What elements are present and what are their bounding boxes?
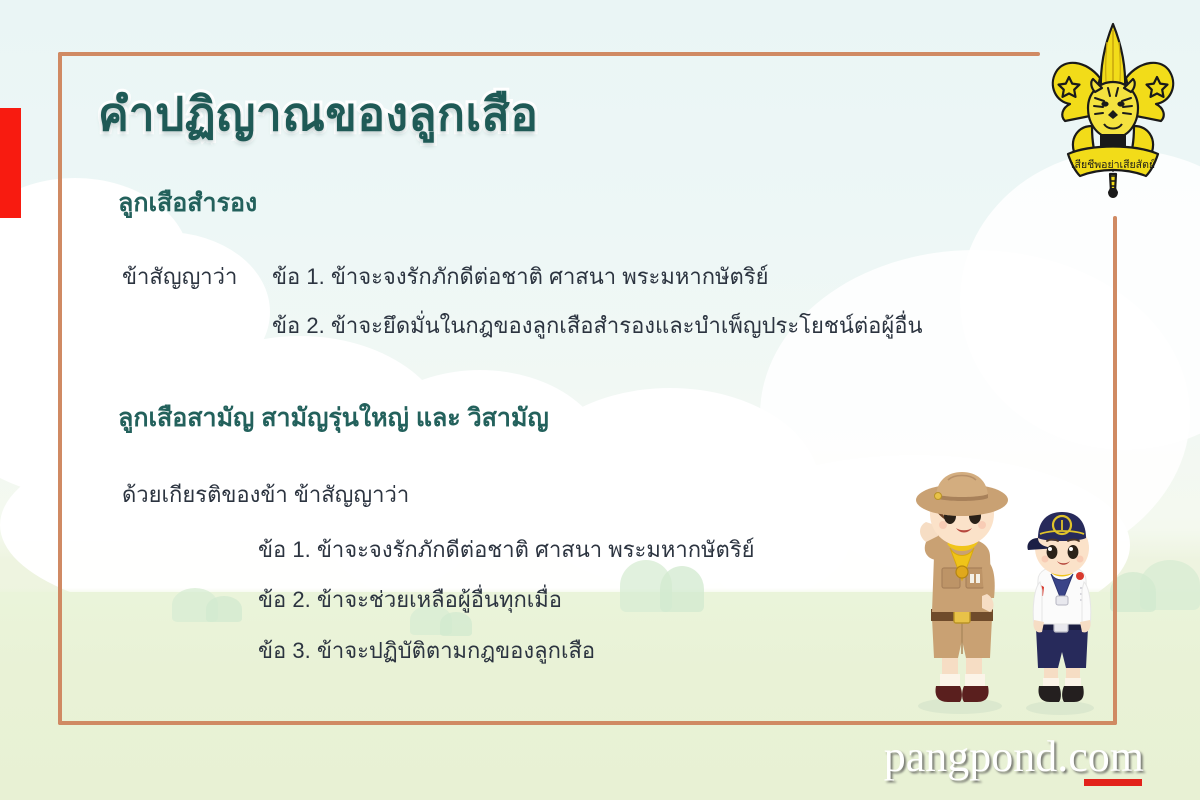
watermark-underline-accent (1084, 779, 1142, 786)
section-heading-scouts: ลูกเสือสามัญ สามัญรุ่นใหญ่ และ วิสามัญ (118, 406, 549, 431)
scout-boy-navy (1027, 512, 1090, 702)
bush-shape (206, 596, 242, 622)
bush-shape (440, 612, 472, 636)
svg-text:เสียชีพอย่าเสียสัตย์: เสียชีพอย่าเสียสัตย์ (1071, 158, 1155, 171)
frame-border-left (58, 52, 62, 725)
two-scout-boys-illustration (888, 468, 1113, 720)
red-accent-tab (0, 108, 21, 218)
section-2-item-3: ข้อ 3. ข้าจะปฏิบัติตามกฎของลูกเสือ (258, 640, 595, 662)
site-watermark: pangpond.com (884, 735, 1144, 779)
section-1-intro: ข้าสัญญาว่า (122, 266, 237, 288)
section-2-item-1: ข้อ 1. ข้าจะจงรักภักดีต่อชาติ ศาสนา พระม… (258, 539, 755, 561)
frame-border-right (1113, 216, 1117, 725)
scout-boy-khaki (916, 472, 1008, 702)
thai-scout-fleur-de-lis-icon: เสียชีพอย่าเสียสัตย์ (1038, 16, 1188, 206)
frame-border-bottom (58, 721, 1117, 725)
slide-canvas: คำปฏิญาณของลูกเสือ ลูกเสือสำรอง ข้าสัญญา… (0, 0, 1200, 800)
page-title: คำปฏิญาณของลูกเสือ (98, 91, 538, 137)
section-heading-cub-scouts: ลูกเสือสำรอง (118, 191, 257, 216)
frame-border-top (58, 52, 1040, 56)
section-2-intro: ด้วยเกียรติของข้า ข้าสัญญาว่า (122, 484, 409, 506)
section-1-item-1: ข้อ 1. ข้าจะจงรักภักดีต่อชาติ ศาสนา พระม… (272, 266, 769, 288)
section-2-item-2: ข้อ 2. ข้าจะช่วยเหลือผู้อื่นทุกเมื่อ (258, 589, 562, 611)
bush-shape (660, 566, 704, 612)
section-1-item-2: ข้อ 2. ข้าจะยึดมั่นในกฎของลูกเสือสำรองแล… (272, 315, 923, 337)
